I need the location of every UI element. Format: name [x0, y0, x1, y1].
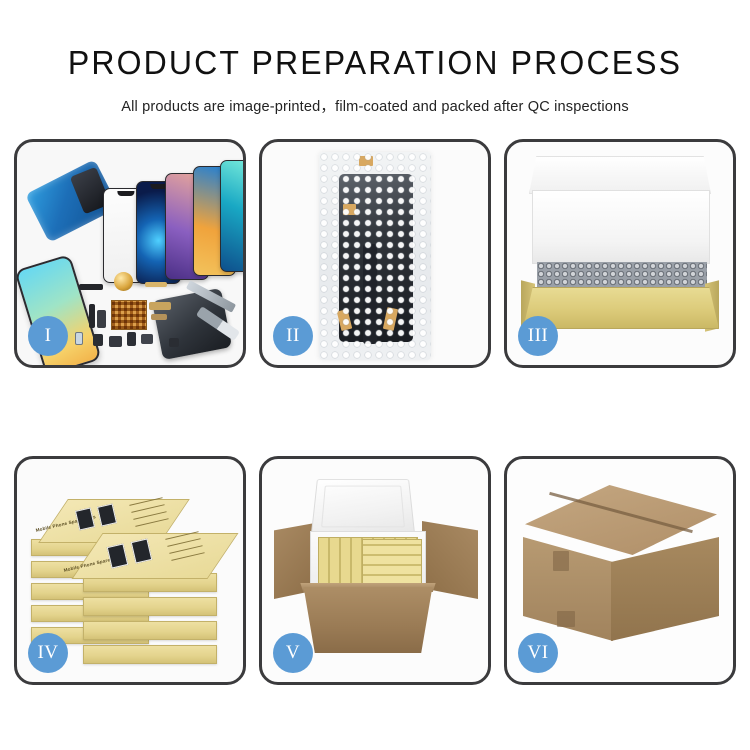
step-panel-1: I — [14, 139, 246, 368]
box-lid-icon — [529, 156, 711, 194]
component-icon — [79, 284, 103, 290]
page-subtitle: All products are image-printed，film-coat… — [0, 95, 750, 116]
component-icon — [97, 310, 106, 328]
step-badge-6: VI — [518, 633, 558, 673]
step-panel-2: II — [259, 139, 491, 368]
bubble-texture — [319, 152, 431, 360]
component-icon — [89, 304, 95, 328]
component-icon — [127, 332, 136, 346]
yellow-boxes-group — [362, 539, 422, 585]
component-icon — [109, 336, 122, 347]
carton-tab — [557, 611, 575, 627]
step-panel-6: VI — [504, 456, 736, 685]
page-title: PRODUCT PREPARATION PROCESS — [11, 44, 739, 82]
product-preparation-infographic: PRODUCT PREPARATION PROCESS All products… — [0, 0, 750, 750]
notch-icon — [117, 191, 134, 196]
phone-teal-icon — [220, 160, 243, 272]
stacked-box — [83, 645, 217, 664]
process-step-grid: I II — [14, 139, 736, 685]
step-panel-5: V — [259, 456, 491, 685]
component-icon — [169, 338, 179, 347]
step-badge-4: IV — [28, 633, 68, 673]
screw-tray-icon — [111, 300, 147, 330]
foam-lid-icon — [311, 479, 416, 537]
stacked-box — [83, 621, 217, 640]
step-panel-3: III — [504, 139, 736, 368]
carton-body — [298, 587, 438, 653]
step-badge-5: V — [273, 633, 313, 673]
step-badge-3: III — [518, 316, 558, 356]
speaker-module-icon — [114, 272, 133, 291]
step-badge-2: II — [273, 316, 313, 356]
carton-tab — [553, 551, 569, 571]
component-icon — [75, 332, 83, 345]
step-badge-1: I — [28, 316, 68, 356]
foam-sheet-icon — [532, 190, 710, 264]
component-icon — [151, 314, 167, 320]
stacked-box — [83, 597, 217, 616]
component-icon — [93, 334, 103, 346]
component-icon — [145, 282, 167, 287]
step-panel-4: Mobile Phone Spare Parts Mobile Phone Sp… — [14, 456, 246, 685]
bubble-bag-icon — [319, 152, 431, 360]
header: PRODUCT PREPARATION PROCESS All products… — [0, 0, 750, 116]
component-icon — [141, 334, 153, 344]
component-icon — [149, 302, 171, 310]
